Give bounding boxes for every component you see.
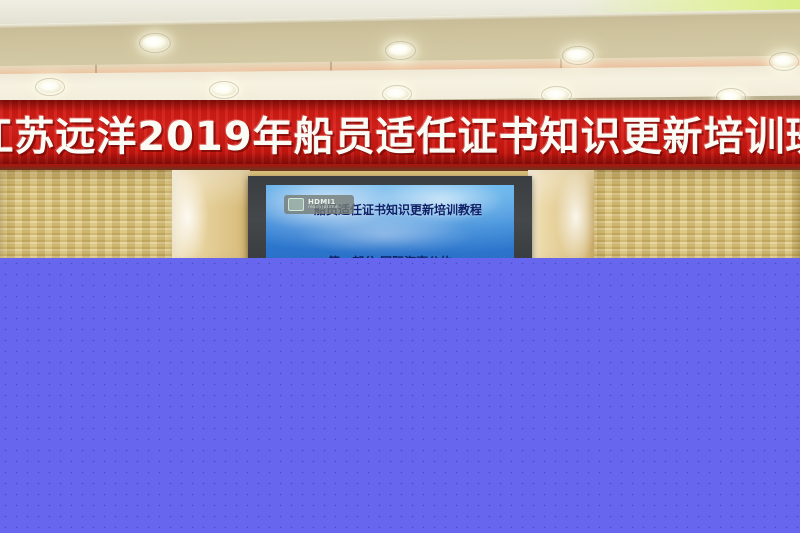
- slide-cloud-decor: [296, 215, 476, 255]
- monitor-icon: [288, 198, 304, 211]
- hdmi-source-osd-text: HDMI1 ready/prime: [308, 199, 338, 211]
- wall-slat-panel-right: [590, 170, 800, 264]
- event-banner: 江苏远洋2019年船员适任证书知识更新培训班: [0, 100, 800, 166]
- screenshot-canvas: 江苏远洋2019年船员适任证书知识更新培训班 船员适任证书知识更新培训教程 第一…: [0, 0, 800, 533]
- hdmi-source-osd: HDMI1 ready/prime: [284, 195, 354, 214]
- purple-occlusion-overlay: [0, 258, 800, 533]
- ceiling-downlight: [772, 55, 796, 68]
- wall-wood-column-left: [172, 170, 250, 264]
- hdmi-source-sublabel: ready/prime: [308, 206, 338, 211]
- projection-screen-display[interactable]: 船员适任证书知识更新培训教程 第一部分 国际海事公约 HDMI1 ready/p…: [266, 185, 514, 264]
- wall-wood-column-right: [528, 170, 594, 264]
- wall-slat-panel-left: [0, 170, 176, 264]
- ceiling-downlight: [565, 49, 591, 62]
- ceiling-downlight: [38, 81, 62, 93]
- event-banner-text: 江苏远洋2019年船员适任证书知识更新培训班: [0, 100, 800, 166]
- ceiling-downlight: [212, 84, 236, 96]
- ceiling-downlight: [385, 88, 409, 100]
- projection-screen-frame: 船员适任证书知识更新培训教程 第一部分 国际海事公约 HDMI1 ready/p…: [248, 176, 532, 264]
- ceiling-downlight: [388, 44, 413, 57]
- ceiling-downlight: [142, 36, 168, 50]
